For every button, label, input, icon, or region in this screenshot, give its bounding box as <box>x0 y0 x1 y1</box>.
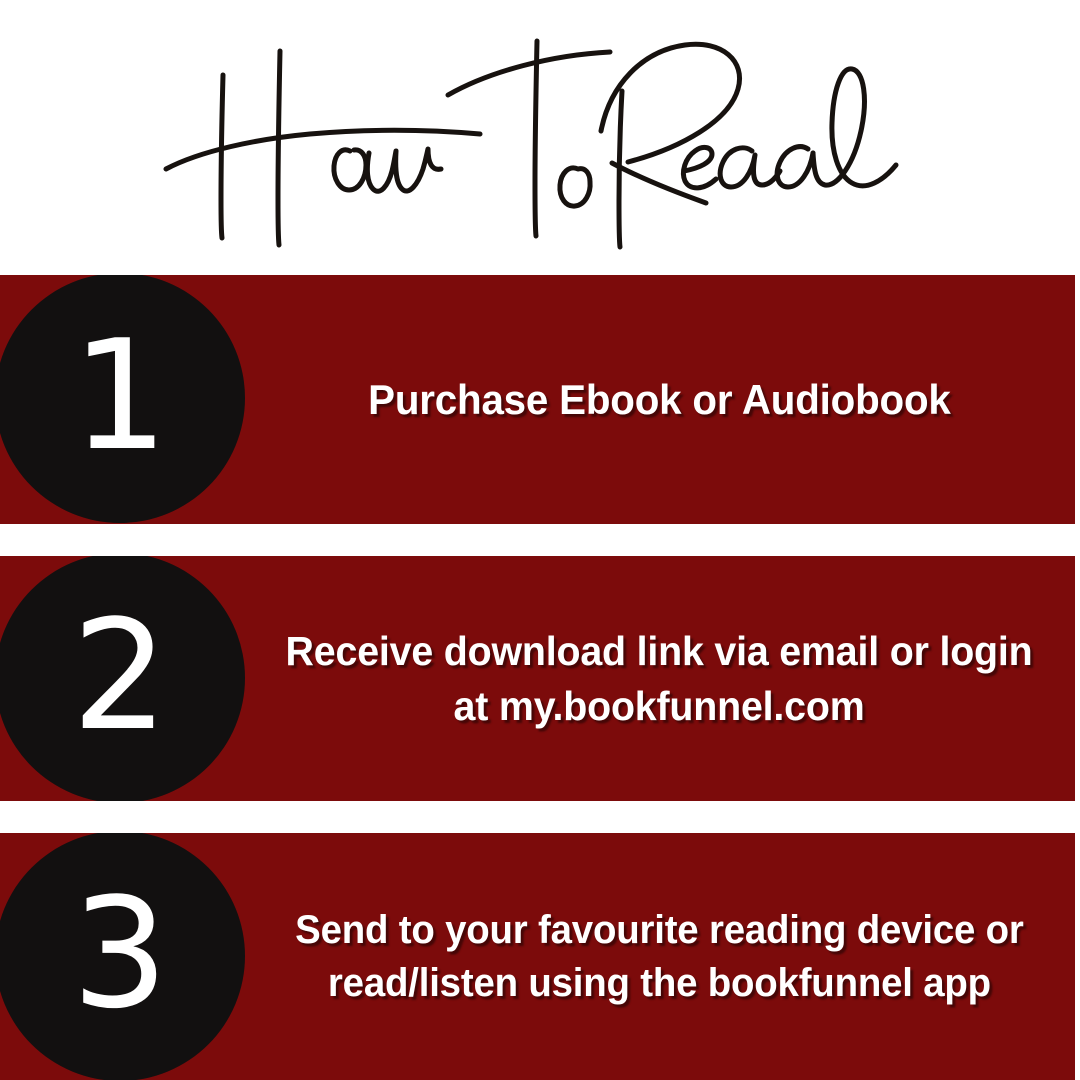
how-to-read-infographic: How To Read <box>0 0 1080 1080</box>
step-row-3: 3 Send to your favourite reading device … <box>0 833 1075 1080</box>
step-text-line-2-1: Receive download link via email or login <box>286 628 1033 674</box>
step-text-1: Purchase Ebook or Audiobook <box>252 275 1067 524</box>
step-text-line-1-1: Purchase Ebook or Audiobook <box>368 372 951 427</box>
title-script-artwork <box>160 23 920 253</box>
step-text-line-2-2: at my.bookfunnel.com <box>454 683 865 729</box>
step-number-3: 3 <box>72 878 169 1030</box>
step-number-badge-1: 1 <box>0 275 245 523</box>
step-text-2: Receive download link via email or login… <box>252 556 1067 801</box>
step-text-line-3-2: read/listen using the bookfunnel app <box>328 961 991 1005</box>
step-row-1: 1 Purchase Ebook or Audiobook <box>0 275 1075 524</box>
step-number-badge-3: 3 <box>0 833 245 1080</box>
step-text-3: Send to your favourite reading device or… <box>252 833 1067 1080</box>
step-row-2: 2 Receive download link via email or log… <box>0 556 1075 801</box>
step-text-block-3: Send to your favourite reading device or… <box>295 904 1023 1010</box>
page-title: How To Read <box>0 0 1080 275</box>
step-number-1: 1 <box>72 320 169 472</box>
step-number-2: 2 <box>72 600 169 752</box>
step-text-block-2: Receive download link via email or login… <box>286 624 1033 732</box>
step-text-line-3-1: Send to your favourite reading device or <box>295 908 1023 952</box>
step-number-badge-2: 2 <box>0 556 245 801</box>
